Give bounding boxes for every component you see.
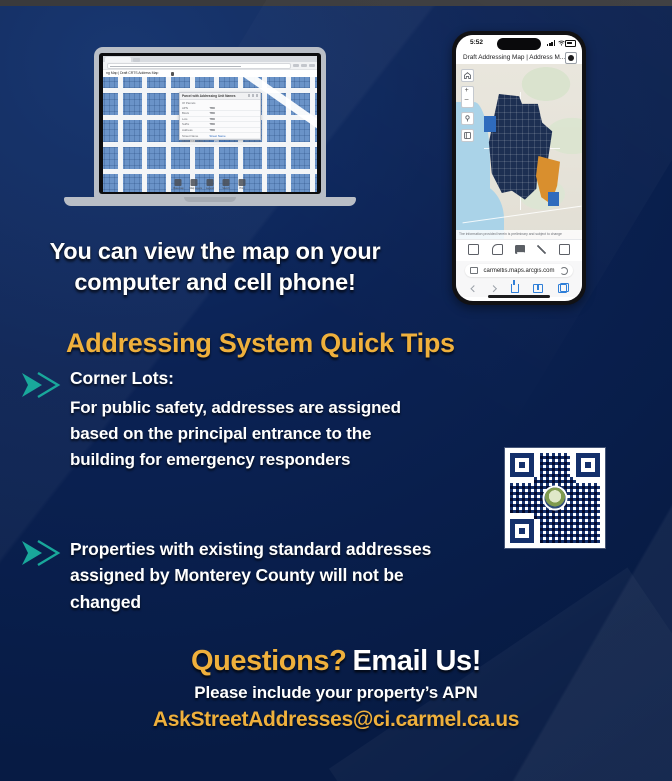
pin-icon: [171, 72, 174, 76]
phone-screen: 5:52 Draft Addressing Map | Address M...: [456, 35, 582, 301]
map-tool-sketch[interactable]: Sketch: [222, 179, 231, 190]
city-seal-logo: [545, 488, 566, 509]
phone-status-bar: 5:52: [456, 35, 582, 50]
section-title: Addressing System Quick Tips: [66, 328, 455, 359]
popup-row-key: Street Name: [182, 134, 209, 138]
popup-row: Current Address Current Address: [180, 139, 260, 145]
double-chevron-arrow-icon: [18, 370, 62, 400]
laptop-screen: ng Map | Draft CRTS Address Map Parcel w…: [99, 53, 321, 194]
popup-row-value: TBD: [209, 128, 258, 132]
qr-quiet-zone: [570, 453, 576, 477]
qr-code[interactable]: [505, 448, 605, 548]
tabs-icon[interactable]: [558, 284, 567, 293]
forward-icon[interactable]: [490, 285, 498, 293]
map-tool-print[interactable]: Print: [238, 179, 247, 190]
tip-text: Properties with existing standard addres…: [70, 536, 448, 615]
cellular-signal-icon: [547, 40, 555, 46]
laptop-lid: ng Map | Draft CRTS Address Map Parcel w…: [94, 47, 326, 199]
popup-row-value: Street Name: [209, 134, 258, 138]
sketch-icon: [223, 179, 230, 186]
map-attribution: The information provided herein is preli…: [456, 230, 582, 239]
browser-url-input[interactable]: [107, 63, 291, 69]
headline: You can view the map on your computer an…: [0, 236, 430, 299]
popup-header: Parcel with Addressing Unit Names: [180, 93, 260, 100]
map-tool-legend[interactable]: Legend: [206, 179, 215, 190]
bookmarks-icon[interactable]: [533, 284, 543, 293]
email-us-label: Email Us!: [352, 645, 481, 677]
qr-quiet-zone: [576, 477, 600, 483]
tip-body: Properties with existing standard addres…: [70, 536, 448, 615]
phone-map-toolbar[interactable]: [456, 239, 582, 259]
status-time: 5:52: [470, 39, 483, 46]
zoom-in-out-buttons[interactable]: [461, 86, 474, 108]
map-tool-label: Legend: [206, 187, 215, 190]
browser-new-tab-button[interactable]: [133, 58, 140, 62]
desktop-map-toolbar[interactable]: Basemap Map Layers Legend: [174, 179, 247, 190]
measure-icon[interactable]: [537, 245, 546, 254]
popup-row-value: TBD: [209, 117, 258, 121]
tip-text: For public safety, addresses are assigne…: [70, 395, 438, 472]
legend-icon[interactable]: [515, 245, 525, 254]
phone-map-controls[interactable]: [461, 69, 474, 142]
blue-parcel-patch-2: [548, 192, 559, 206]
phone-mockup: 5:52 Draft Addressing Map | Address M...: [452, 31, 586, 305]
qr-finder-bottom-left: [510, 519, 534, 543]
tip-item: Properties with existing standard addres…: [18, 536, 448, 615]
popup-row-value: TBD: [209, 111, 258, 115]
map-attribution-text: The information provided herein is preli…: [459, 232, 562, 236]
apn-note: Please include your property’s APN: [0, 683, 672, 703]
popup-row-value: TBD: [209, 106, 258, 110]
map-tool-label: Basemap: [174, 187, 183, 190]
popup-row-key: Suffix: [182, 122, 209, 126]
qr-modules: [510, 453, 600, 543]
double-chevron-arrow-icon: [18, 538, 62, 568]
browser-address-bar[interactable]: [103, 62, 317, 70]
map-tool-label: Print: [238, 187, 247, 190]
dynamic-island: [497, 38, 541, 50]
poster-canvas: ng Map | Draft CRTS Address Map Parcel w…: [0, 0, 672, 781]
legend-icon: [207, 179, 214, 186]
qr-quiet-zone: [534, 453, 540, 477]
email-address[interactable]: AskStreetAddresses@ci.carmel.ca.us: [0, 708, 672, 732]
popup-row-value: Current Address: [209, 139, 258, 143]
basemap-icon[interactable]: [468, 244, 479, 255]
url-pill[interactable]: carmeltis.maps.arcgis.com: [465, 264, 573, 277]
desktop-browser-window: ng Map | Draft CRTS Address Map Parcel w…: [103, 56, 317, 192]
desktop-map-canvas[interactable]: Parcel with Addressing Unit Names Of Par…: [103, 77, 317, 192]
layers-icon[interactable]: [492, 244, 503, 255]
questions-line: Questions?Email Us!: [0, 645, 672, 678]
home-icon[interactable]: [461, 69, 474, 82]
basemap-icon: [175, 179, 182, 186]
phone-map-canvas[interactable]: The information provided herein is preli…: [456, 64, 582, 239]
map-tool-label: Map Layers: [190, 187, 199, 190]
popup-title: Parcel with Addressing Unit Names: [182, 94, 236, 98]
layers-icon: [191, 179, 198, 186]
qr-quiet-zone: [510, 513, 534, 519]
tip-heading: Corner Lots:: [70, 368, 438, 389]
popup-row-key: APN: [182, 106, 209, 110]
bookmark-icon[interactable]: [559, 244, 570, 255]
print-icon: [239, 179, 246, 186]
phone-url-text: carmeltis.maps.arcgis.com: [478, 268, 560, 274]
parcel-info-popup[interactable]: Parcel with Addressing Unit Names Of Par…: [179, 92, 261, 140]
contact-block: Questions?Email Us! Please include your …: [0, 645, 672, 732]
popup-row-key: Address: [182, 128, 209, 132]
tip-item: Corner Lots: For public safety, addresse…: [18, 368, 438, 472]
questions-label: Questions?: [191, 645, 347, 677]
blue-parcel-patch: [484, 116, 496, 132]
map-tool-basemap[interactable]: Basemap: [174, 179, 183, 190]
share-icon[interactable]: [511, 284, 519, 293]
top-bar: [0, 0, 672, 6]
qr-finder-top-right: [576, 453, 600, 477]
laptop-trackpad-notch: [184, 197, 236, 202]
home-indicator: [488, 295, 550, 298]
popup-row-key: Lots: [182, 117, 209, 121]
back-icon[interactable]: [470, 285, 478, 293]
battery-icon: [565, 40, 576, 47]
page-settings-icon[interactable]: [470, 267, 478, 274]
wifi-icon: [558, 40, 565, 46]
avatar[interactable]: [565, 52, 577, 64]
layers-icon[interactable]: [461, 129, 474, 142]
locate-icon[interactable]: [461, 112, 474, 125]
tip-body: Corner Lots: For public safety, addresse…: [70, 368, 438, 472]
laptop-mockup: ng Map | Draft CRTS Address Map Parcel w…: [64, 47, 356, 222]
phone-page-title: Draft Addressing Map | Address M...: [463, 54, 565, 61]
map-tool-layers[interactable]: Map Layers: [190, 179, 199, 190]
qr-quiet-zone: [534, 519, 540, 543]
map-app-title: ng Map | Draft CRTS Address Map: [106, 71, 158, 75]
qr-quiet-zone: [510, 477, 534, 483]
phone-browser-address-bar[interactable]: carmeltis.maps.arcgis.com: [456, 261, 582, 280]
qr-finder-top-left: [510, 453, 534, 477]
browser-toolbar-icons[interactable]: [293, 64, 315, 67]
popup-window-controls[interactable]: [248, 94, 258, 97]
popup-row-value: TBD: [209, 122, 258, 126]
phone-page-title-bar: Draft Addressing Map | Address M...: [456, 50, 582, 65]
popup-row-key: Block: [182, 111, 209, 115]
map-tool-label: Sketch: [222, 187, 231, 190]
popup-row-key: Current Address: [182, 139, 209, 143]
reload-icon[interactable]: [560, 267, 568, 275]
